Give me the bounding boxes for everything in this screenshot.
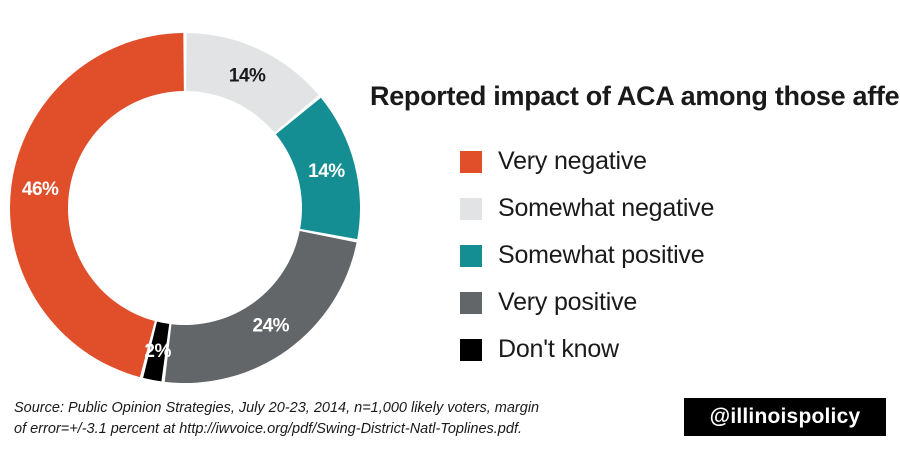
legend-item-label: Somewhat negative (498, 196, 714, 221)
legend-swatch-icon (460, 292, 482, 314)
legend-swatch-icon (460, 339, 482, 361)
chart-page: 14%14%24%2%46% Reported impact of ACA am… (0, 0, 900, 450)
source-line-2: of error=+/-3.1 percent at http://iwvoic… (14, 419, 644, 440)
donut-slice-label: 14% (308, 161, 345, 182)
source-note: Source: Public Opinion Strategies, July … (14, 398, 644, 440)
legend-item-label: Very positive (498, 290, 637, 315)
legend-item[interactable]: Somewhat negative (460, 185, 890, 232)
donut-slice-group (10, 33, 360, 383)
source-line-1: Source: Public Opinion Strategies, July … (14, 398, 644, 419)
legend-swatch-icon (460, 198, 482, 220)
legend-item-label: Don't know (498, 337, 619, 362)
legend-item[interactable]: Don't know (460, 326, 890, 373)
donut-slice-label: 46% (22, 179, 59, 200)
donut-chart-svg: 14%14%24%2%46% (10, 33, 360, 383)
donut-slice-label: 2% (144, 341, 171, 362)
chart-title: Reported impact of ACA among those affec… (370, 82, 895, 110)
donut-slice-label: 24% (253, 316, 290, 337)
legend-swatch-icon (460, 245, 482, 267)
legend-item[interactable]: Very negative (460, 138, 890, 185)
legend-swatch-icon (460, 151, 482, 173)
legend-item[interactable]: Very positive (460, 279, 890, 326)
legend-item[interactable]: Somewhat positive (460, 232, 890, 279)
brand-badge: @illinoispolicy (684, 398, 886, 436)
brand-handle-text: @illinoispolicy (710, 405, 861, 429)
donut-slice-label: 14% (229, 65, 266, 86)
chart-legend: Very negativeSomewhat negativeSomewhat p… (460, 138, 890, 373)
donut-chart: 14%14%24%2%46% (10, 33, 360, 383)
donut-slice[interactable] (165, 231, 357, 383)
legend-item-label: Very negative (498, 149, 647, 174)
legend-item-label: Somewhat positive (498, 243, 704, 268)
